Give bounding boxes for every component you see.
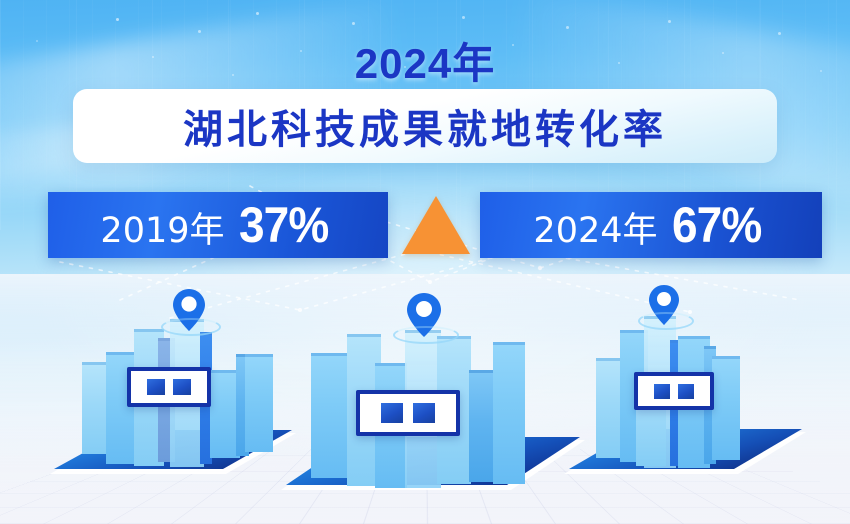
map-pin-icon bbox=[406, 292, 442, 338]
building bbox=[493, 342, 525, 484]
city-left-info-card bbox=[127, 367, 211, 407]
card-window bbox=[173, 379, 191, 395]
title-card: 湖北科技成果就地转化率 bbox=[73, 89, 777, 163]
map-pin-icon bbox=[648, 284, 680, 326]
map-pin-icon bbox=[172, 288, 206, 332]
card-window bbox=[381, 403, 403, 423]
stat-right-percent: 67% bbox=[672, 196, 761, 254]
stat-box-2019[interactable]: 2019年 37% bbox=[48, 192, 388, 258]
city-right-info-card bbox=[634, 372, 714, 410]
card-window bbox=[654, 384, 670, 399]
card-window bbox=[413, 403, 435, 423]
city-illustration-right bbox=[548, 286, 828, 482]
page-title: 湖北科技成果就地转化率 bbox=[183, 97, 667, 155]
pin-base-ring bbox=[638, 312, 694, 330]
stat-right-year: 2024年 bbox=[533, 202, 657, 253]
city-center-info-card bbox=[356, 390, 460, 436]
up-triangle-icon bbox=[402, 196, 470, 254]
card-window bbox=[678, 384, 694, 399]
pin-base-ring bbox=[161, 318, 221, 336]
stat-left-percent: 37% bbox=[239, 196, 328, 254]
infographic-poster: 2024年 湖北科技成果就地转化率 2019年 37% 2024年 67% bbox=[0, 0, 850, 524]
stat-box-2024[interactable]: 2024年 67% bbox=[480, 192, 822, 258]
card-window bbox=[147, 379, 165, 395]
pin-base-ring bbox=[393, 326, 459, 344]
building bbox=[712, 356, 740, 460]
stat-left-content: 2019年 37% bbox=[100, 196, 335, 254]
page-year-heading: 2024年 bbox=[0, 30, 850, 91]
city-illustration-center bbox=[255, 290, 595, 500]
stat-left-year: 2019年 bbox=[100, 202, 224, 253]
building bbox=[311, 353, 347, 478]
stat-right-content: 2024年 67% bbox=[533, 196, 768, 254]
